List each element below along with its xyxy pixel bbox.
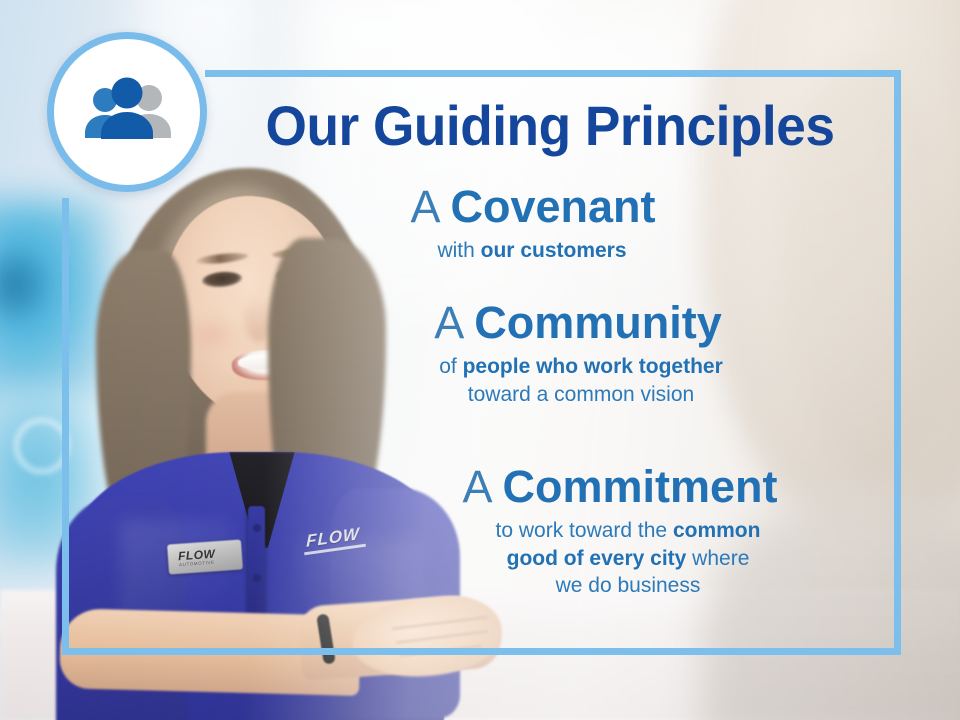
principle-commitment-headline: A Commitment	[200, 464, 900, 510]
poster-canvas: FLOW AUTOMOTIVE FLOW	[0, 0, 960, 720]
covenant-sub-b: our customers	[481, 239, 627, 262]
community-sub-b: people who work together	[463, 355, 723, 378]
commitment-keyword: Commitment	[503, 461, 778, 512]
page-title: Our Guiding Principles	[218, 98, 883, 154]
principle-covenant-subtext: with our customers	[200, 237, 900, 265]
covenant-article: A	[410, 181, 450, 232]
principle-community-subtext: of people who work together toward a com…	[200, 353, 900, 408]
covenant-sub-a: with	[437, 239, 480, 262]
commitment-sub-c: good of every city	[507, 547, 687, 570]
community-article: A	[434, 297, 474, 348]
principle-commitment-subtext: to work toward the common good of every …	[200, 517, 898, 600]
frame-border-bottom	[62, 648, 901, 655]
community-keyword: Community	[474, 297, 722, 348]
people-badge	[47, 32, 207, 192]
people-group-icon	[79, 76, 175, 148]
principle-commitment: A Commitment to work toward the common g…	[200, 464, 900, 600]
commitment-sub-b: common	[673, 519, 761, 542]
commitment-article: A	[462, 461, 502, 512]
principle-community: A Community of people who work together …	[200, 300, 900, 408]
principle-covenant: A Covenant with our customers	[200, 184, 900, 265]
commitment-sub-a: to work toward the	[496, 519, 673, 542]
commitment-sub-d: where	[686, 547, 749, 570]
covenant-keyword: Covenant	[451, 181, 656, 232]
community-sub-c: toward a common vision	[468, 383, 694, 406]
commitment-sub-e: we do business	[556, 574, 701, 597]
frame-border-left	[62, 198, 69, 655]
text-content: Our Guiding Principles A Covenant with o…	[200, 72, 900, 648]
principle-community-headline: A Community	[200, 300, 900, 346]
principle-covenant-headline: A Covenant	[200, 184, 900, 230]
community-sub-a: of	[439, 355, 462, 378]
